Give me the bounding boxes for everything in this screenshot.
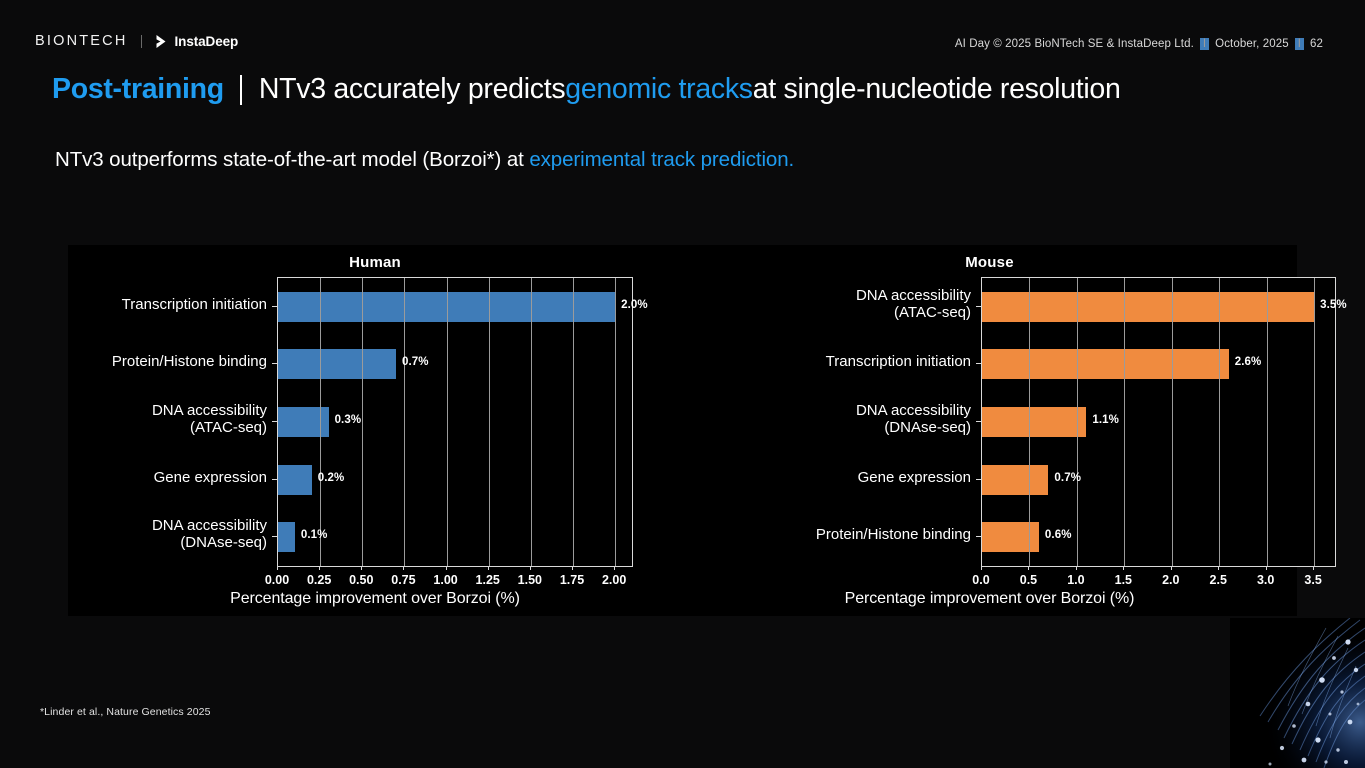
category-label: DNA accessibility (ATAC-seq) — [741, 288, 971, 322]
gridline — [1314, 278, 1315, 566]
page-subtitle: NTv3 outperforms state-of-the-art model … — [55, 148, 794, 172]
gridline — [489, 278, 490, 566]
chart-title-mouse: Mouse — [682, 254, 1297, 271]
bar-value-label: 2.6% — [1235, 356, 1262, 368]
bar-row — [278, 522, 632, 552]
x-tick-mark — [981, 566, 982, 570]
bars-mouse — [982, 278, 1335, 566]
category-label: Transcription initiation — [741, 354, 971, 371]
x-tick-label: 1.25 — [476, 573, 500, 587]
y-tick-mark — [976, 479, 981, 480]
gridline — [1219, 278, 1220, 566]
bar-row — [982, 349, 1335, 379]
plot-area-mouse — [981, 277, 1336, 567]
chart-mouse: Mouse Percentage improvement over Borzoi… — [682, 245, 1297, 616]
gridline — [1172, 278, 1173, 566]
bar — [278, 465, 312, 495]
x-tick-mark — [277, 566, 278, 570]
category-label: DNA accessibility (ATAC-seq) — [37, 403, 267, 437]
slide: BIONTECH InstaDeep AI Day © 2025 BioNTec… — [0, 0, 1365, 768]
bar — [982, 292, 1314, 322]
gridline — [573, 278, 574, 566]
bar-value-label: 0.1% — [301, 529, 328, 541]
gridline — [1124, 278, 1125, 566]
bar-row — [982, 407, 1335, 437]
x-tick-label: 0.00 — [265, 573, 289, 587]
x-tick-label: 3.0 — [1257, 573, 1274, 587]
gridline — [447, 278, 448, 566]
x-tick-label: 0.25 — [307, 573, 331, 587]
bar-row — [278, 349, 632, 379]
subtitle-part-1: NTv3 outperforms state-of-the-art model … — [55, 148, 529, 171]
gridline — [531, 278, 532, 566]
bar-value-label: 0.7% — [402, 356, 429, 368]
copyright-text: AI Day © 2025 BioNTech SE & InstaDeep Lt… — [955, 38, 1194, 50]
bars-human — [278, 278, 632, 566]
x-tick-mark — [1313, 566, 1314, 570]
y-tick-mark — [976, 536, 981, 537]
y-tick-mark — [976, 306, 981, 307]
bar — [982, 349, 1229, 379]
gridline — [1029, 278, 1030, 566]
gridline — [404, 278, 405, 566]
brand-separator — [141, 35, 142, 48]
page-title: Post-training NTv3 accurately predicts g… — [52, 73, 1121, 106]
category-label: Protein/Histone binding — [37, 354, 267, 371]
subtitle-highlight: experimental track prediction. — [529, 148, 794, 171]
x-tick-mark — [1266, 566, 1267, 570]
x-tick-label: 1.5 — [1115, 573, 1132, 587]
y-tick-mark — [272, 306, 277, 307]
category-label: DNA accessibility (DNAse-seq) — [741, 403, 971, 437]
bar-row — [982, 465, 1335, 495]
x-tick-label: 0.0 — [972, 573, 989, 587]
bar-value-label: 1.1% — [1092, 414, 1119, 426]
date-text: October, 2025 — [1215, 38, 1289, 50]
bar — [982, 407, 1086, 437]
x-tick-mark — [530, 566, 531, 570]
y-tick-mark — [272, 363, 277, 364]
y-tick-mark — [272, 479, 277, 480]
instadeep-wordmark: InstaDeep — [175, 34, 239, 49]
bar — [982, 465, 1048, 495]
x-tick-mark — [1076, 566, 1077, 570]
brand-lockup: BIONTECH InstaDeep — [35, 33, 238, 49]
gridline — [1267, 278, 1268, 566]
bar-row — [982, 522, 1335, 552]
x-tick-mark — [403, 566, 404, 570]
category-label: Transcription initiation — [37, 297, 267, 314]
bar — [278, 522, 295, 552]
instadeep-logo: InstaDeep — [155, 34, 239, 49]
x-tick-mark — [1171, 566, 1172, 570]
y-tick-mark — [272, 536, 277, 537]
x-tick-mark — [361, 566, 362, 570]
chart-title-human: Human — [68, 254, 682, 271]
x-tick-mark — [319, 566, 320, 570]
bar-value-label: 2.0% — [621, 299, 648, 311]
title-part-2: at single-nucleotide resolution — [753, 73, 1121, 106]
meta-separator-1: I — [1200, 38, 1209, 50]
bar-row — [278, 407, 632, 437]
bar-value-label: 3.5% — [1320, 299, 1347, 311]
biontech-logo: BIONTECH — [35, 33, 128, 49]
title-part-1: NTv3 accurately predicts — [259, 73, 565, 106]
x-tick-label: 1.0 — [1067, 573, 1084, 587]
header-meta: AI Day © 2025 BioNTech SE & InstaDeep Lt… — [955, 38, 1323, 50]
gridline — [1077, 278, 1078, 566]
bar-value-label: 0.3% — [335, 414, 362, 426]
bar-row — [278, 292, 632, 322]
category-label: DNA accessibility (DNAse-seq) — [37, 518, 267, 552]
fiber-optic-graphic — [1230, 618, 1365, 768]
x-tick-label: 1.75 — [560, 573, 584, 587]
x-tick-label: 1.50 — [518, 573, 542, 587]
x-tick-mark — [446, 566, 447, 570]
bar — [278, 349, 396, 379]
x-tick-mark — [572, 566, 573, 570]
category-label: Gene expression — [741, 470, 971, 487]
chart-human: Human Percentage improvement over Borzoi… — [68, 245, 682, 616]
x-tick-mark — [1218, 566, 1219, 570]
category-label: Protein/Histone binding — [741, 527, 971, 544]
y-tick-mark — [976, 363, 981, 364]
x-tick-label: 0.75 — [391, 573, 415, 587]
x-tick-mark — [1123, 566, 1124, 570]
x-tick-label: 0.50 — [349, 573, 373, 587]
bar-row — [982, 292, 1335, 322]
footnote: *Linder et al., Nature Genetics 2025 — [40, 706, 211, 718]
charts-panel: Human Percentage improvement over Borzoi… — [68, 245, 1297, 616]
x-tick-label: 2.00 — [602, 573, 626, 587]
bar-value-label: 0.2% — [318, 472, 345, 484]
y-tick-mark — [272, 421, 277, 422]
corner-decoration-graphic — [1230, 618, 1365, 768]
title-highlight: genomic tracks — [565, 73, 752, 106]
plot-area-human — [277, 277, 633, 567]
x-tick-label: 0.5 — [1020, 573, 1037, 587]
x-tick-mark — [614, 566, 615, 570]
slide-header: BIONTECH InstaDeep AI Day © 2025 BioNTec… — [0, 0, 1365, 68]
gridline — [615, 278, 616, 566]
gridline — [320, 278, 321, 566]
x-axis-label-mouse: Percentage improvement over Borzoi (%) — [682, 590, 1297, 608]
x-tick-label: 2.0 — [1162, 573, 1179, 587]
title-divider — [240, 75, 242, 105]
x-tick-label: 3.5 — [1304, 573, 1321, 587]
title-kicker: Post-training — [52, 73, 224, 106]
y-tick-mark — [976, 421, 981, 422]
category-label: Gene expression — [37, 470, 267, 487]
x-axis-label-human: Percentage improvement over Borzoi (%) — [68, 590, 682, 608]
meta-separator-2: I — [1295, 38, 1304, 50]
x-tick-label: 2.5 — [1210, 573, 1227, 587]
x-tick-mark — [1028, 566, 1029, 570]
x-tick-label: 1.00 — [433, 573, 457, 587]
x-tick-mark — [488, 566, 489, 570]
page-number: 62 — [1310, 38, 1323, 50]
bar-value-label: 0.7% — [1054, 472, 1081, 484]
bar-value-label: 0.6% — [1045, 529, 1072, 541]
gridline — [362, 278, 363, 566]
instadeep-play-icon — [155, 34, 170, 49]
